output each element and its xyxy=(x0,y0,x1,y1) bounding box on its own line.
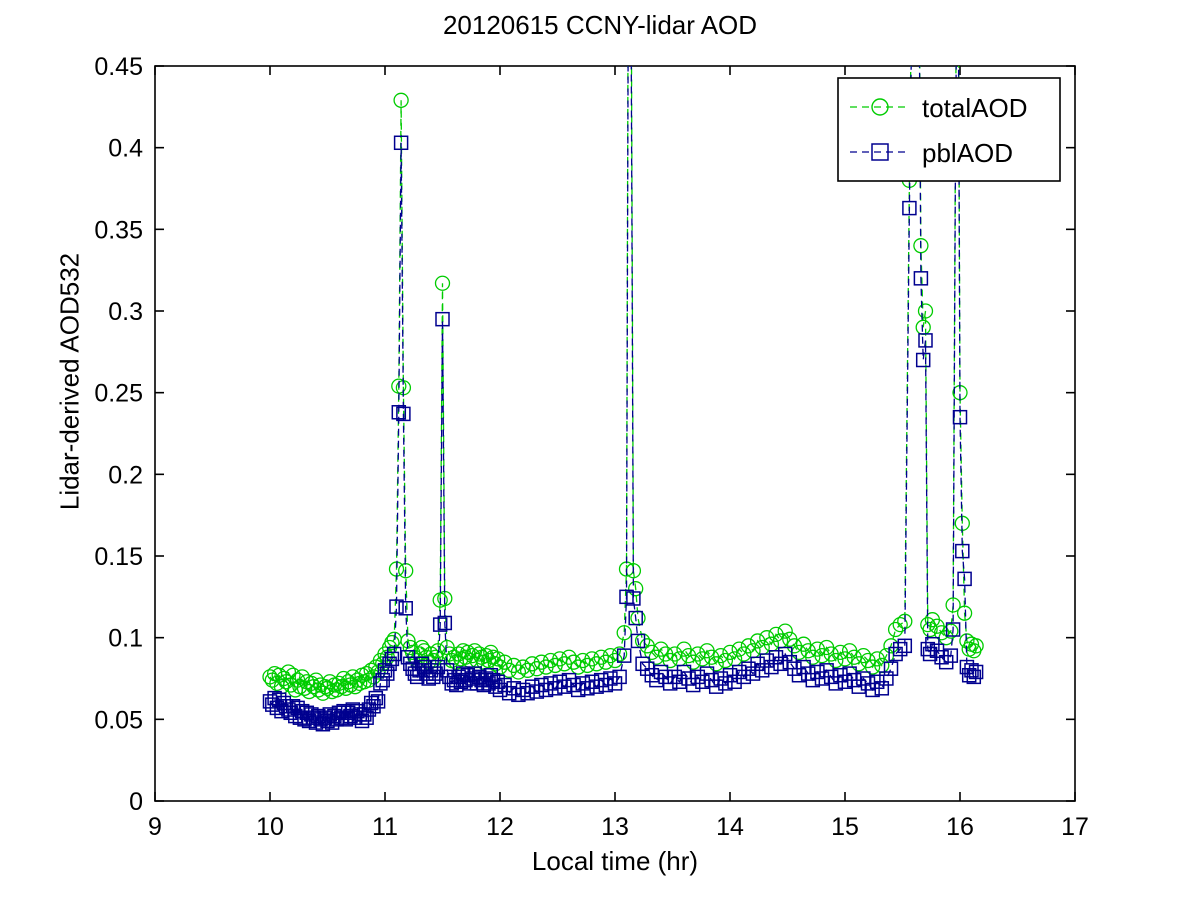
x-tick-label: 15 xyxy=(831,813,859,841)
y-tick-label: 0.15 xyxy=(94,543,143,571)
x-tick-label: 16 xyxy=(946,813,974,841)
chart-legend[interactable]: totalAODpblAOD xyxy=(838,78,1060,181)
x-axis-tick-labels: 91011121314151617 xyxy=(148,813,1089,841)
legend-label: pblAOD xyxy=(922,138,1013,168)
x-tick-label: 10 xyxy=(256,813,284,841)
y-tick-label: 0.25 xyxy=(94,380,143,408)
y-tick-label: 0.45 xyxy=(94,53,143,81)
y-tick-label: 0.2 xyxy=(108,461,143,489)
y-tick-label: 0.3 xyxy=(108,298,143,326)
y-tick-label: 0.35 xyxy=(94,216,143,244)
y-tick-label: 0 xyxy=(129,788,143,816)
x-tick-label: 11 xyxy=(372,813,398,841)
x-tick-label: 14 xyxy=(716,813,744,841)
y-axis-tick-labels: 00.050.10.150.20.250.30.350.40.45 xyxy=(94,53,143,816)
x-tick-label: 13 xyxy=(601,813,629,841)
x-tick-label: 17 xyxy=(1061,813,1089,841)
chart-figure: 20120615 CCNY-lidar AOD Lidar-derived AO… xyxy=(0,0,1200,901)
x-tick-label: 12 xyxy=(486,813,514,841)
legend-label: totalAOD xyxy=(922,93,1028,123)
plot-canvas: 91011121314151617 00.050.10.150.20.250.3… xyxy=(0,0,1200,901)
y-tick-label: 0.1 xyxy=(108,625,143,653)
y-tick-label: 0.4 xyxy=(108,135,143,163)
y-tick-label: 0.05 xyxy=(94,706,143,734)
x-tick-label: 9 xyxy=(148,813,162,841)
